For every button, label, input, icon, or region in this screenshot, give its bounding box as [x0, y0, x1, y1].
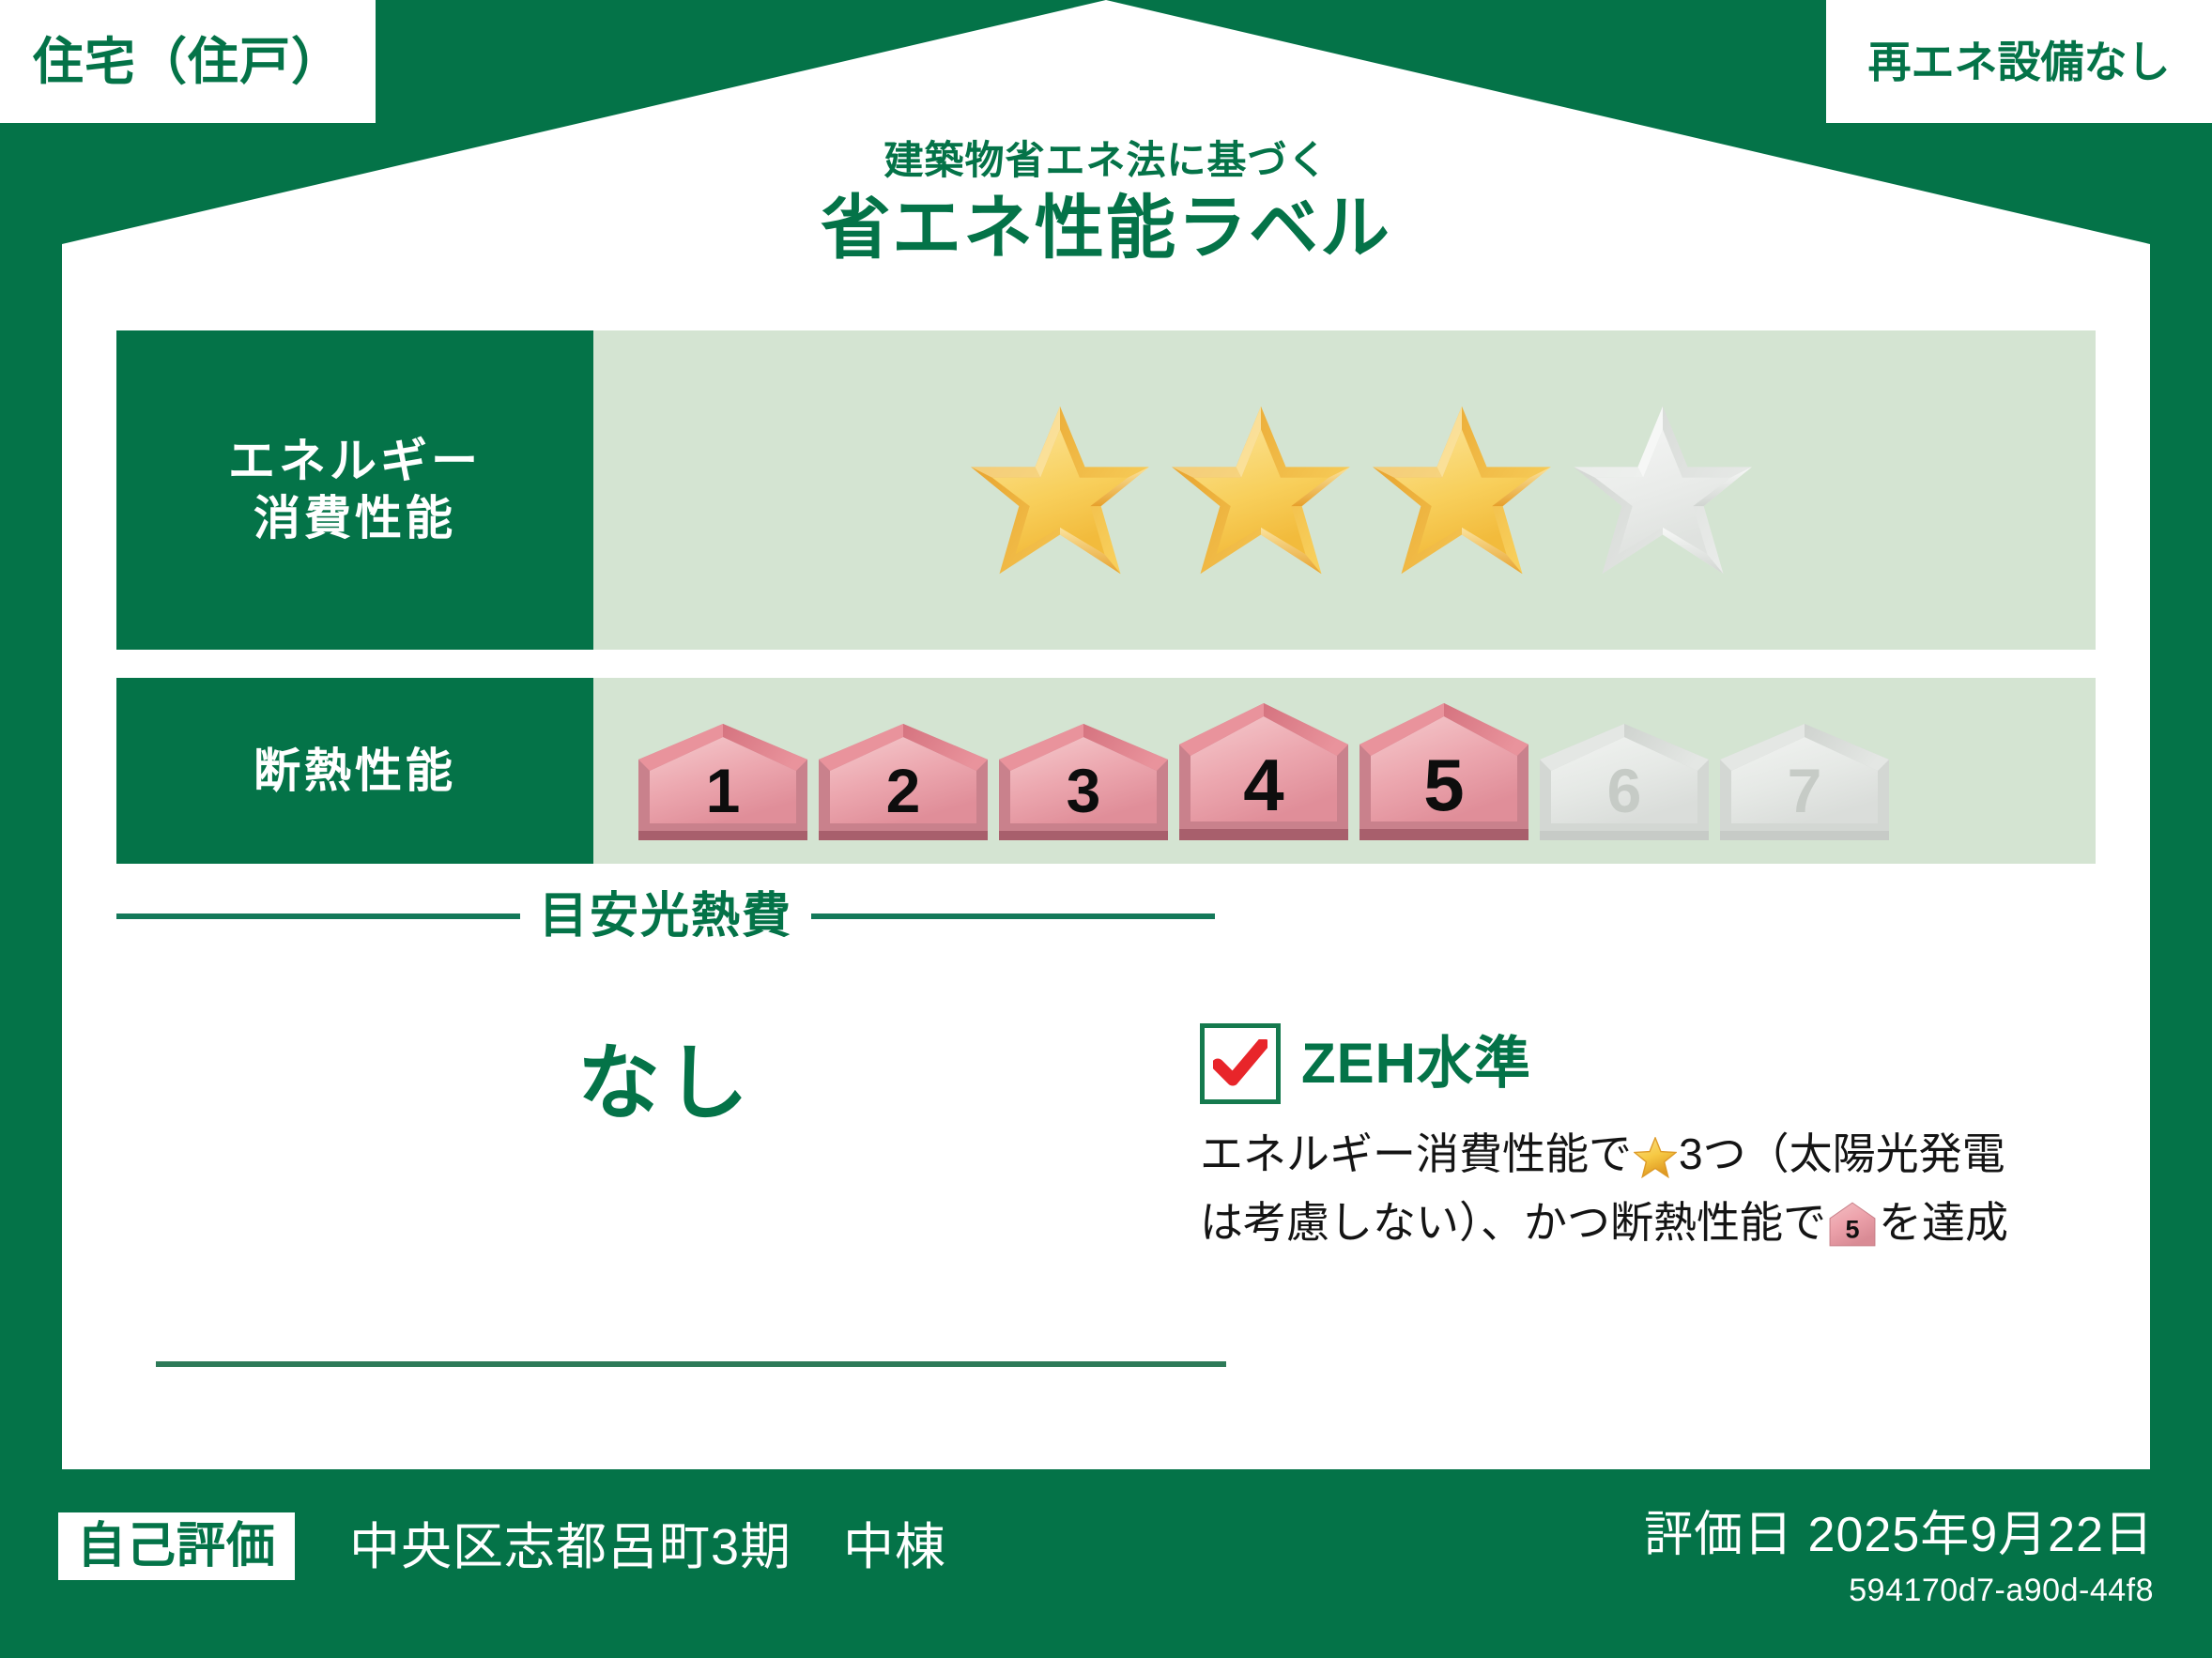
star-filled-icon — [971, 403, 1149, 577]
row-energy-performance-body — [593, 330, 2096, 650]
house-filled-icon: 2 — [817, 722, 990, 840]
footer-address: 中央区志都呂町3期 中棟 — [349, 1522, 946, 1573]
page-title: 省エネ性能ラベル — [0, 188, 2212, 268]
zeh-desc-part2: は考慮しない）、かつ断熱性能で — [1200, 1198, 1826, 1247]
energy-performance-label: 住宅（住戸） 再エネ設備なし 建築物省エネ法に基づく 省エネ性能ラベル エネルギ… — [0, 0, 2212, 1658]
star-filled-icon-inline — [1634, 1134, 1677, 1193]
badge-renewable-equipment: 再エネ設備なし — [1826, 0, 2212, 123]
house-empty-icon: 6 — [1538, 722, 1711, 840]
house-filled-icon: 1 — [637, 722, 809, 840]
row-insulation-performance-body: 1234567 — [593, 678, 2096, 864]
row-energy-performance: エネルギー 消費性能 — [116, 330, 2096, 650]
heading-rule-left — [116, 913, 520, 919]
zeh-standard-description: エネルギー消費性能で3つ（太陽光発電 は考慮しない）、かつ断熱性能で5を達成 — [1200, 1125, 2101, 1263]
insulation-grade-scale: 1234567 — [637, 701, 1891, 840]
badge-dwelling-type-label: 住宅（住戸） — [33, 37, 343, 87]
house-filled-icon: 5 — [1358, 701, 1530, 840]
footer-evaluation-date: 評価日 2025年9月22日 — [1644, 1511, 2154, 1559]
house-filled-icon: 3 — [997, 722, 1170, 840]
row-energy-label-line1: エネルギー — [228, 433, 482, 490]
insulation-grade-number: 6 — [1607, 756, 1642, 825]
estimated-utility-cost-heading: 目安光熱費 — [116, 892, 1215, 941]
title-subtitle: 建築物省エネ法に基づく — [0, 139, 2212, 182]
badge-renewable-equipment-label: 再エネ設備なし — [1868, 40, 2171, 84]
title-block: 建築物省エネ法に基づく 省エネ性能ラベル — [0, 139, 2212, 268]
insulation-grade-number: 2 — [886, 756, 921, 825]
footer-label-id: 594170d7-a90d-44f8 — [1849, 1574, 2154, 1606]
zeh-standard-header: ZEH水準 — [1200, 1023, 2101, 1104]
zeh-standard-block: ZEH水準 エネルギー消費性能で3つ（太陽光発電 は考慮しない）、かつ断熱性能で… — [1200, 1023, 2101, 1263]
heading-rule-right — [811, 913, 1215, 919]
row-insulation-performance-label: 断熱性能 — [116, 678, 593, 864]
svg-text:5: 5 — [1845, 1216, 1859, 1244]
star-empty-icon — [1574, 403, 1752, 577]
zeh-desc-star-count: 3つ（太陽光発電 — [1679, 1129, 2005, 1178]
insulation-grade-number: 3 — [1067, 756, 1101, 825]
insulation-grade-number: 1 — [706, 756, 741, 825]
estimated-utility-cost-bottom-rule — [156, 1361, 1226, 1367]
badge-evaluation-type: 自己評価 — [58, 1512, 295, 1580]
badge-dwelling-type: 住宅（住戸） — [0, 0, 376, 123]
zeh-checkbox[interactable] — [1200, 1023, 1281, 1104]
zeh-desc-part1: エネルギー消費性能で — [1200, 1129, 1632, 1178]
insulation-grade-number: 4 — [1243, 744, 1283, 826]
check-icon — [1213, 1039, 1267, 1088]
row-energy-performance-label: エネルギー 消費性能 — [116, 330, 593, 650]
insulation-grade-number: 5 — [1423, 744, 1464, 826]
row-insulation-label-line1: 断熱性能 — [253, 743, 456, 800]
zeh-desc-part3: を達成 — [1879, 1198, 2008, 1247]
content-card: エネルギー 消費性能 断熱性能 1234567 目安光熱費 なし — [62, 291, 2150, 1469]
house-empty-icon: 7 — [1718, 722, 1891, 840]
footer: 自己評価 中央区志都呂町3期 中棟 評価日 2025年9月22日 594170d… — [0, 1469, 2212, 1658]
insulation-grade-number: 7 — [1788, 756, 1822, 825]
badge-evaluation-type-label: 自己評価 — [77, 1522, 276, 1571]
house-filled-icon-inline: 5 — [1828, 1202, 1877, 1262]
estimated-utility-cost-value: なし — [116, 1042, 1215, 1125]
zeh-standard-title: ZEH水準 — [1301, 1036, 1531, 1092]
estimated-utility-cost-label: 目安光熱費 — [539, 892, 792, 941]
row-insulation-performance: 断熱性能 1234567 — [116, 678, 2096, 864]
star-filled-icon — [1373, 403, 1551, 577]
star-filled-icon — [1172, 403, 1350, 577]
star-rating — [971, 403, 1752, 577]
house-filled-icon: 4 — [1177, 701, 1350, 840]
row-energy-label-line2: 消費性能 — [253, 490, 456, 547]
